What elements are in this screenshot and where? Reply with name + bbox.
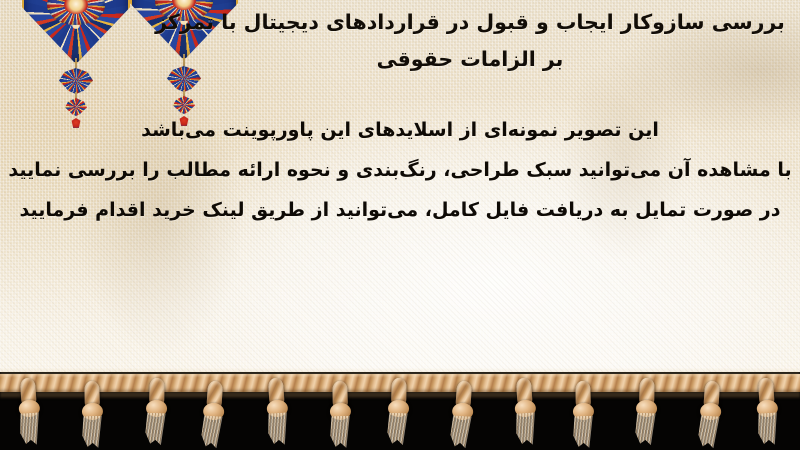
slide-title: بررسی سازوکار ایجاب و قبول در قراردادهای…	[150, 4, 790, 78]
slide-body-line-2: با مشاهده آن می‌توانید سبک طراحی، رنگ‌بن…	[0, 150, 800, 190]
slide-text-layer: بررسی سازوکار ایجاب و قبول در قراردادهای…	[0, 0, 800, 392]
presentation-slide: بررسی سازوکار ایجاب و قبول در قراردادهای…	[0, 0, 800, 450]
carpet-fringe-rope	[0, 374, 800, 392]
slide-body-line-3: در صورت تمایل به دریافت فایل کامل، می‌تو…	[0, 190, 800, 230]
slide-title-line-2: بر الزامات حقوقی	[150, 41, 790, 78]
slide-title-line-1: بررسی سازوکار ایجاب و قبول در قراردادهای…	[150, 4, 790, 41]
slide-body: این تصویر نمونه‌ای از اسلایدهای این پاور…	[0, 110, 800, 230]
slide-body-line-1: این تصویر نمونه‌ای از اسلایدهای این پاور…	[0, 110, 800, 150]
